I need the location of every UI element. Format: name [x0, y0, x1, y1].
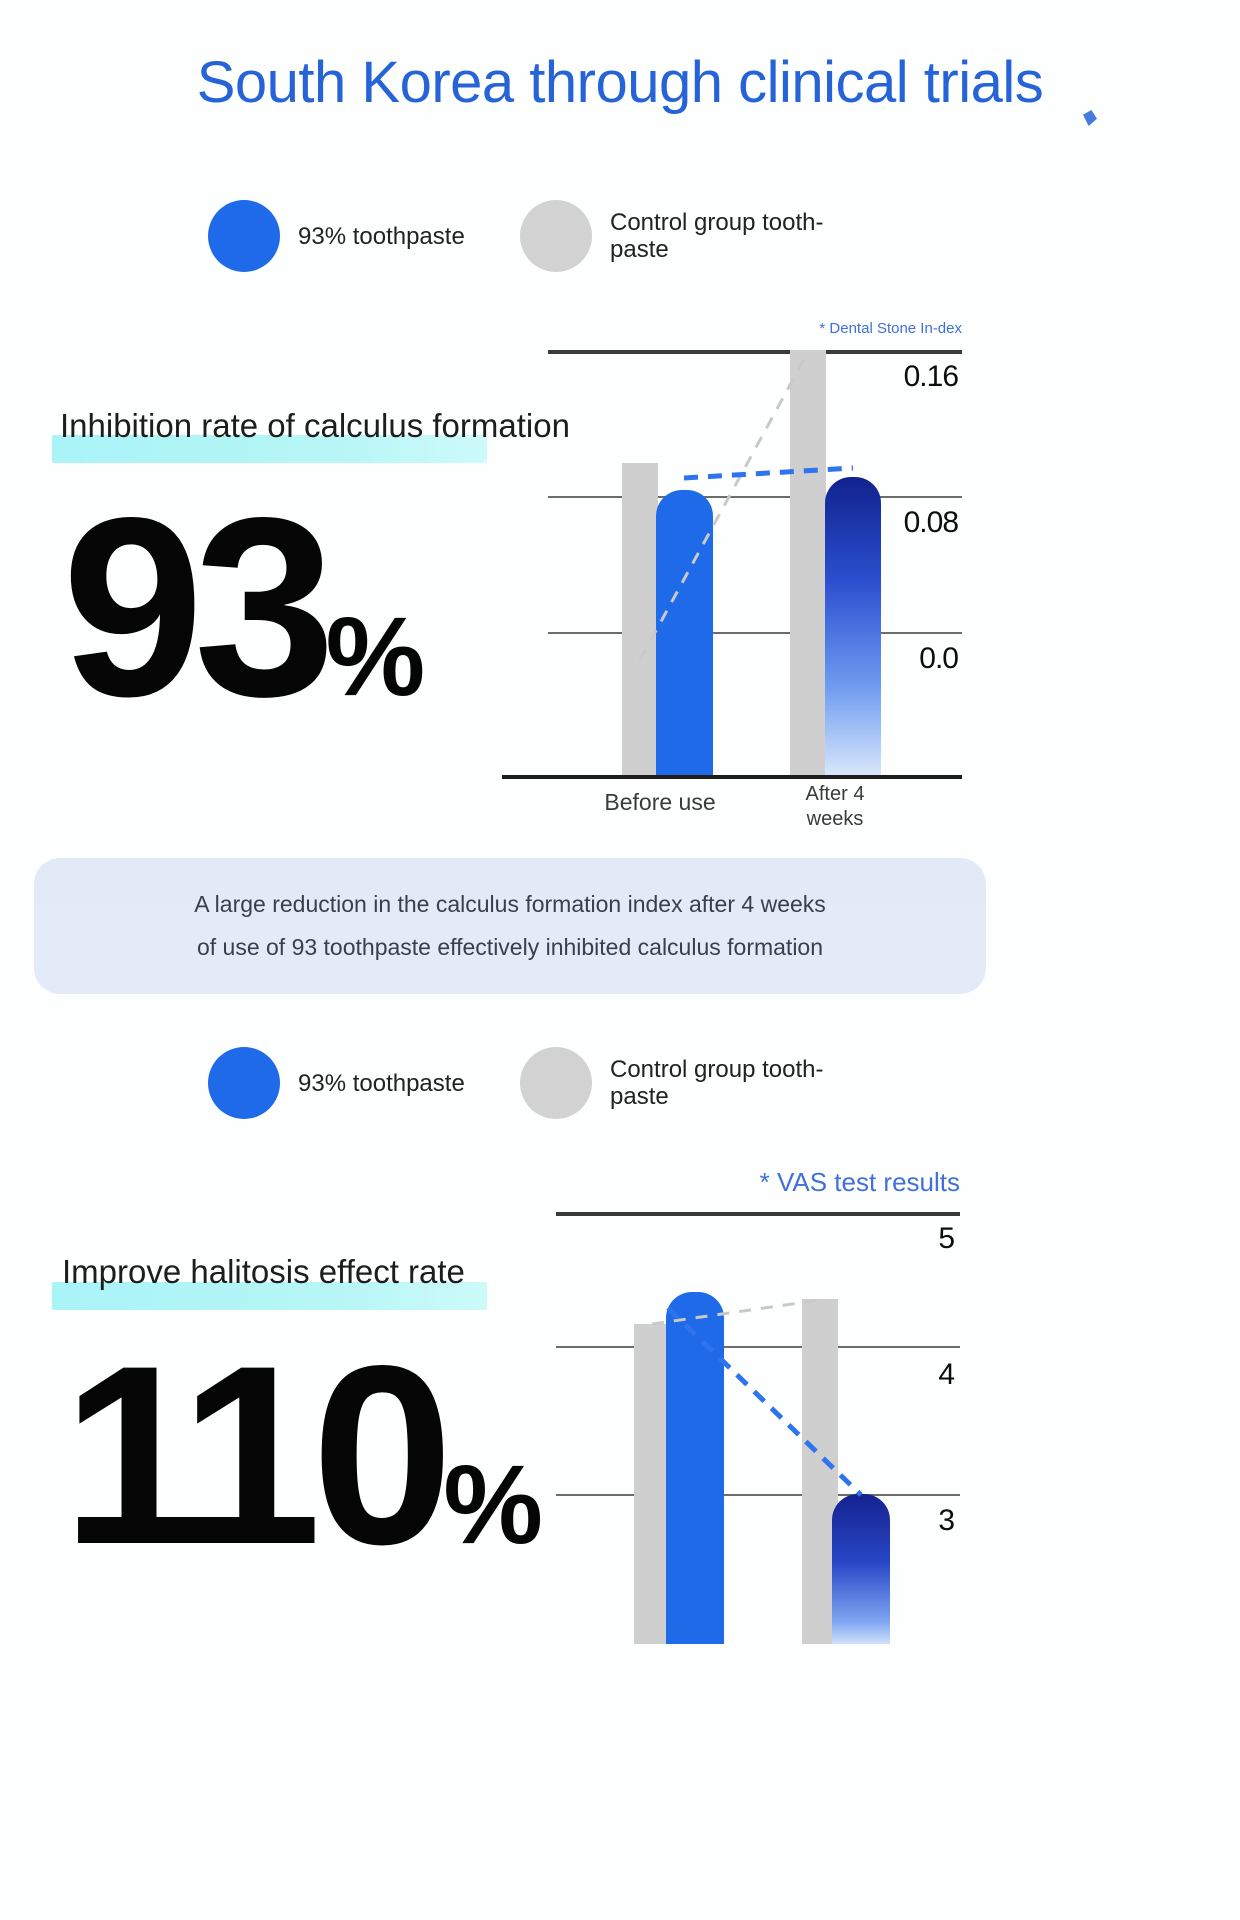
- legend-item-blue-2: 93% toothpaste: [208, 1047, 465, 1119]
- legend-label-blue: 93% toothpaste: [298, 1070, 465, 1097]
- chart2-trend-blue: [668, 1308, 861, 1495]
- legend-label-blue: 93% toothpaste: [298, 223, 465, 250]
- legend-row-2: 93% toothpaste Control group tooth-paste: [0, 1047, 1240, 1137]
- section1-note-box: A large reduction in the calculus format…: [34, 858, 986, 994]
- legend-item-blue-1: 93% toothpaste: [208, 200, 465, 272]
- chart1-xlabel-0: Before use: [590, 790, 730, 815]
- section1-heading: Inhibition rate of calculus formation: [60, 407, 570, 445]
- legend-dot-blue-icon: [208, 1047, 280, 1119]
- legend-item-grey-2: Control group tooth-paste: [520, 1047, 825, 1119]
- chart-dental-stone-index: * Dental Stone In-dex 0.16 0.08 0.0: [548, 320, 962, 780]
- legend-dot-grey-icon: [520, 200, 592, 272]
- chart-vas-test-results: * VAS test results 5 4 3: [556, 1168, 960, 1638]
- chart2-trendlines: [556, 1212, 960, 1644]
- legend-label-grey: Control group tooth-paste: [610, 1056, 825, 1110]
- section1-percent-sign: %: [326, 594, 422, 719]
- chart1-trend-blue: [684, 468, 853, 478]
- legend-dot-grey-icon: [520, 1047, 592, 1119]
- legend-label-grey: Control group tooth-paste: [610, 209, 825, 263]
- legend-item-grey-1: Control group tooth-paste: [520, 200, 825, 272]
- section2-percent-sign: %: [443, 1442, 539, 1567]
- chart2-trend-grey: [652, 1300, 820, 1324]
- chart1-title-note: * Dental Stone In-dex: [782, 320, 962, 337]
- infographic-page: South Korea through clinical trials 93% …: [0, 0, 1240, 1920]
- chart1-plot-area: [548, 350, 962, 775]
- section1-note-line-1: A large reduction in the calculus format…: [34, 891, 986, 918]
- legend-dot-blue-icon: [208, 200, 280, 272]
- section1-number-value: 93: [62, 465, 326, 750]
- section1-big-number: 93%: [62, 480, 421, 784]
- section2-number-value: 110: [62, 1313, 443, 1598]
- section2-heading: Improve halitosis effect rate: [62, 1253, 465, 1291]
- legend-row-1: 93% toothpaste Control group tooth-paste: [0, 200, 1240, 290]
- section1-note-line-2: of use of 93 toothpaste effectively inhi…: [34, 934, 986, 961]
- chart1-xlabel-1: After 4 weeks: [780, 782, 890, 832]
- chart2-plot-area: [556, 1212, 960, 1644]
- chart1-axis-base: [502, 775, 962, 779]
- chart2-title-note: * VAS test results: [700, 1168, 960, 1196]
- chart1-trendlines: [548, 350, 962, 775]
- section2-big-number: 110%: [62, 1328, 539, 1632]
- page-title: South Korea through clinical trials: [0, 48, 1240, 118]
- chart1-trend-grey: [640, 352, 808, 660]
